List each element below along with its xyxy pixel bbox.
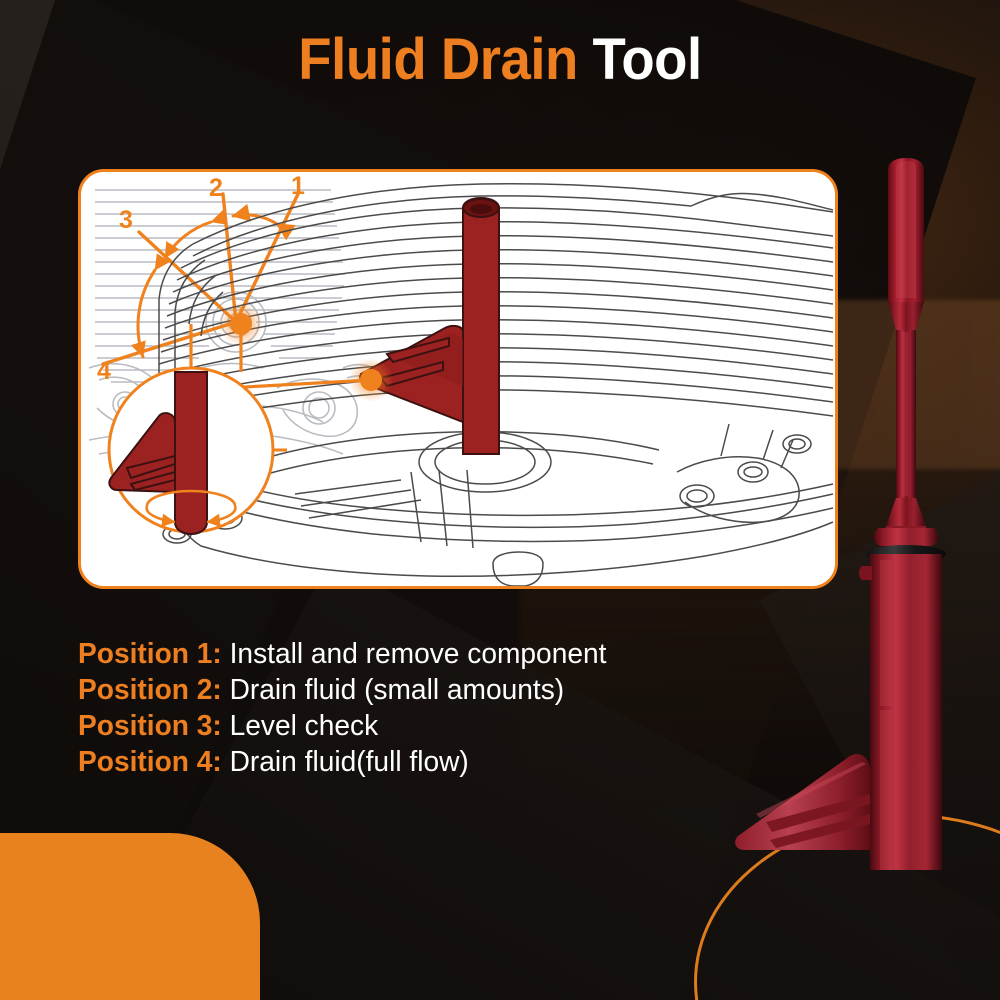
position-label: Position 2: [78, 674, 222, 706]
position-text: Drain fluid (small amounts) [230, 674, 565, 706]
position-label: Position 3: [78, 710, 222, 742]
tool-wing-blade [735, 754, 870, 850]
position-text: Install and remove component [230, 638, 607, 670]
page-title: Fluid Drain Tool [30, 26, 970, 93]
title-highlight: Fluid Drain [298, 27, 578, 92]
angle-label-4: 4 [97, 357, 111, 385]
position-text: Level check [230, 710, 379, 742]
illustration-svg: 1 2 3 4 [81, 172, 835, 586]
position-list: Position 1: Install and remove component… [78, 636, 778, 780]
orange-corner-blob [0, 833, 260, 1000]
list-item: Position 1: Install and remove component [78, 636, 757, 672]
product-photo [730, 150, 1000, 870]
position-text: Drain fluid(full flow) [230, 746, 469, 778]
list-item: Position 4: Drain fluid(full flow) [78, 744, 757, 780]
angle-label-1: 1 [291, 172, 305, 200]
infographic-canvas: Fluid Drain Tool [0, 0, 1000, 1000]
angle-label-2: 2 [209, 174, 223, 202]
angle-label-3: 3 [119, 206, 133, 234]
title-suffix: Tool [593, 27, 702, 92]
illustration-card: 1 2 3 4 [78, 169, 838, 589]
list-item: Position 3: Level check [78, 708, 757, 744]
position-label: Position 1: [78, 638, 222, 670]
list-item: Position 2: Drain fluid (small amounts) [78, 672, 757, 708]
product-svg [730, 150, 1000, 870]
position-label: Position 4: [78, 746, 222, 778]
